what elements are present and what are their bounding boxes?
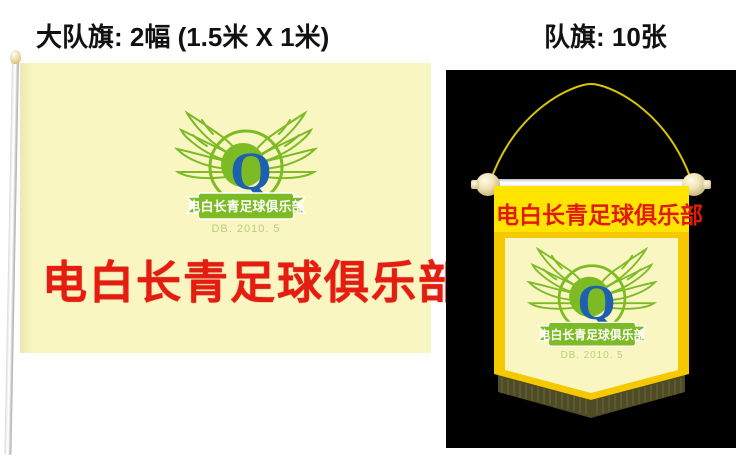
poster-canvas: 大队旗: 2幅 (1.5米 X 1米) 队旗: 10张 <box>0 0 750 473</box>
pennant-panel: 电白长青足球俱乐部 <box>446 70 736 448</box>
right-item-title: 队旗: 10张 <box>544 17 667 54</box>
pennant-club-name: 电白长青足球俱乐部 <box>496 197 687 233</box>
crest-ribbon-text: 电白长青足球俱乐部 <box>187 199 304 214</box>
club-crest: Q 电白长青足球俱乐部 DB. 2010. 5 <box>518 238 666 362</box>
crest-founded-text: DB. 2010. 5 <box>211 223 280 235</box>
flag-pole <box>4 59 19 455</box>
flag-hoist-shading <box>20 63 34 353</box>
club-crest: Q 电白长青足球俱乐部 DB. 2010. 5 <box>165 101 327 236</box>
crest-ribbon-text: 电白长青足球俱乐部 <box>539 328 646 342</box>
crest-monogram: Q <box>230 141 272 201</box>
crest-founded-text: DB. 2010. 5 <box>560 350 623 361</box>
flag-pole-finial-icon <box>10 50 21 64</box>
large-flag-panel: Q 电白长青足球俱乐部 DB. 2010. 5 电白长青足球俱乐部 <box>0 55 445 455</box>
flag-club-name: 电白长青足球俱乐部 <box>42 253 412 313</box>
large-team-flag: Q 电白长青足球俱乐部 DB. 2010. 5 电白长青足球俱乐部 <box>20 63 431 353</box>
left-item-title: 大队旗: 2幅 (1.5米 X 1米) <box>36 17 329 54</box>
crest-monogram: Q <box>577 275 615 330</box>
